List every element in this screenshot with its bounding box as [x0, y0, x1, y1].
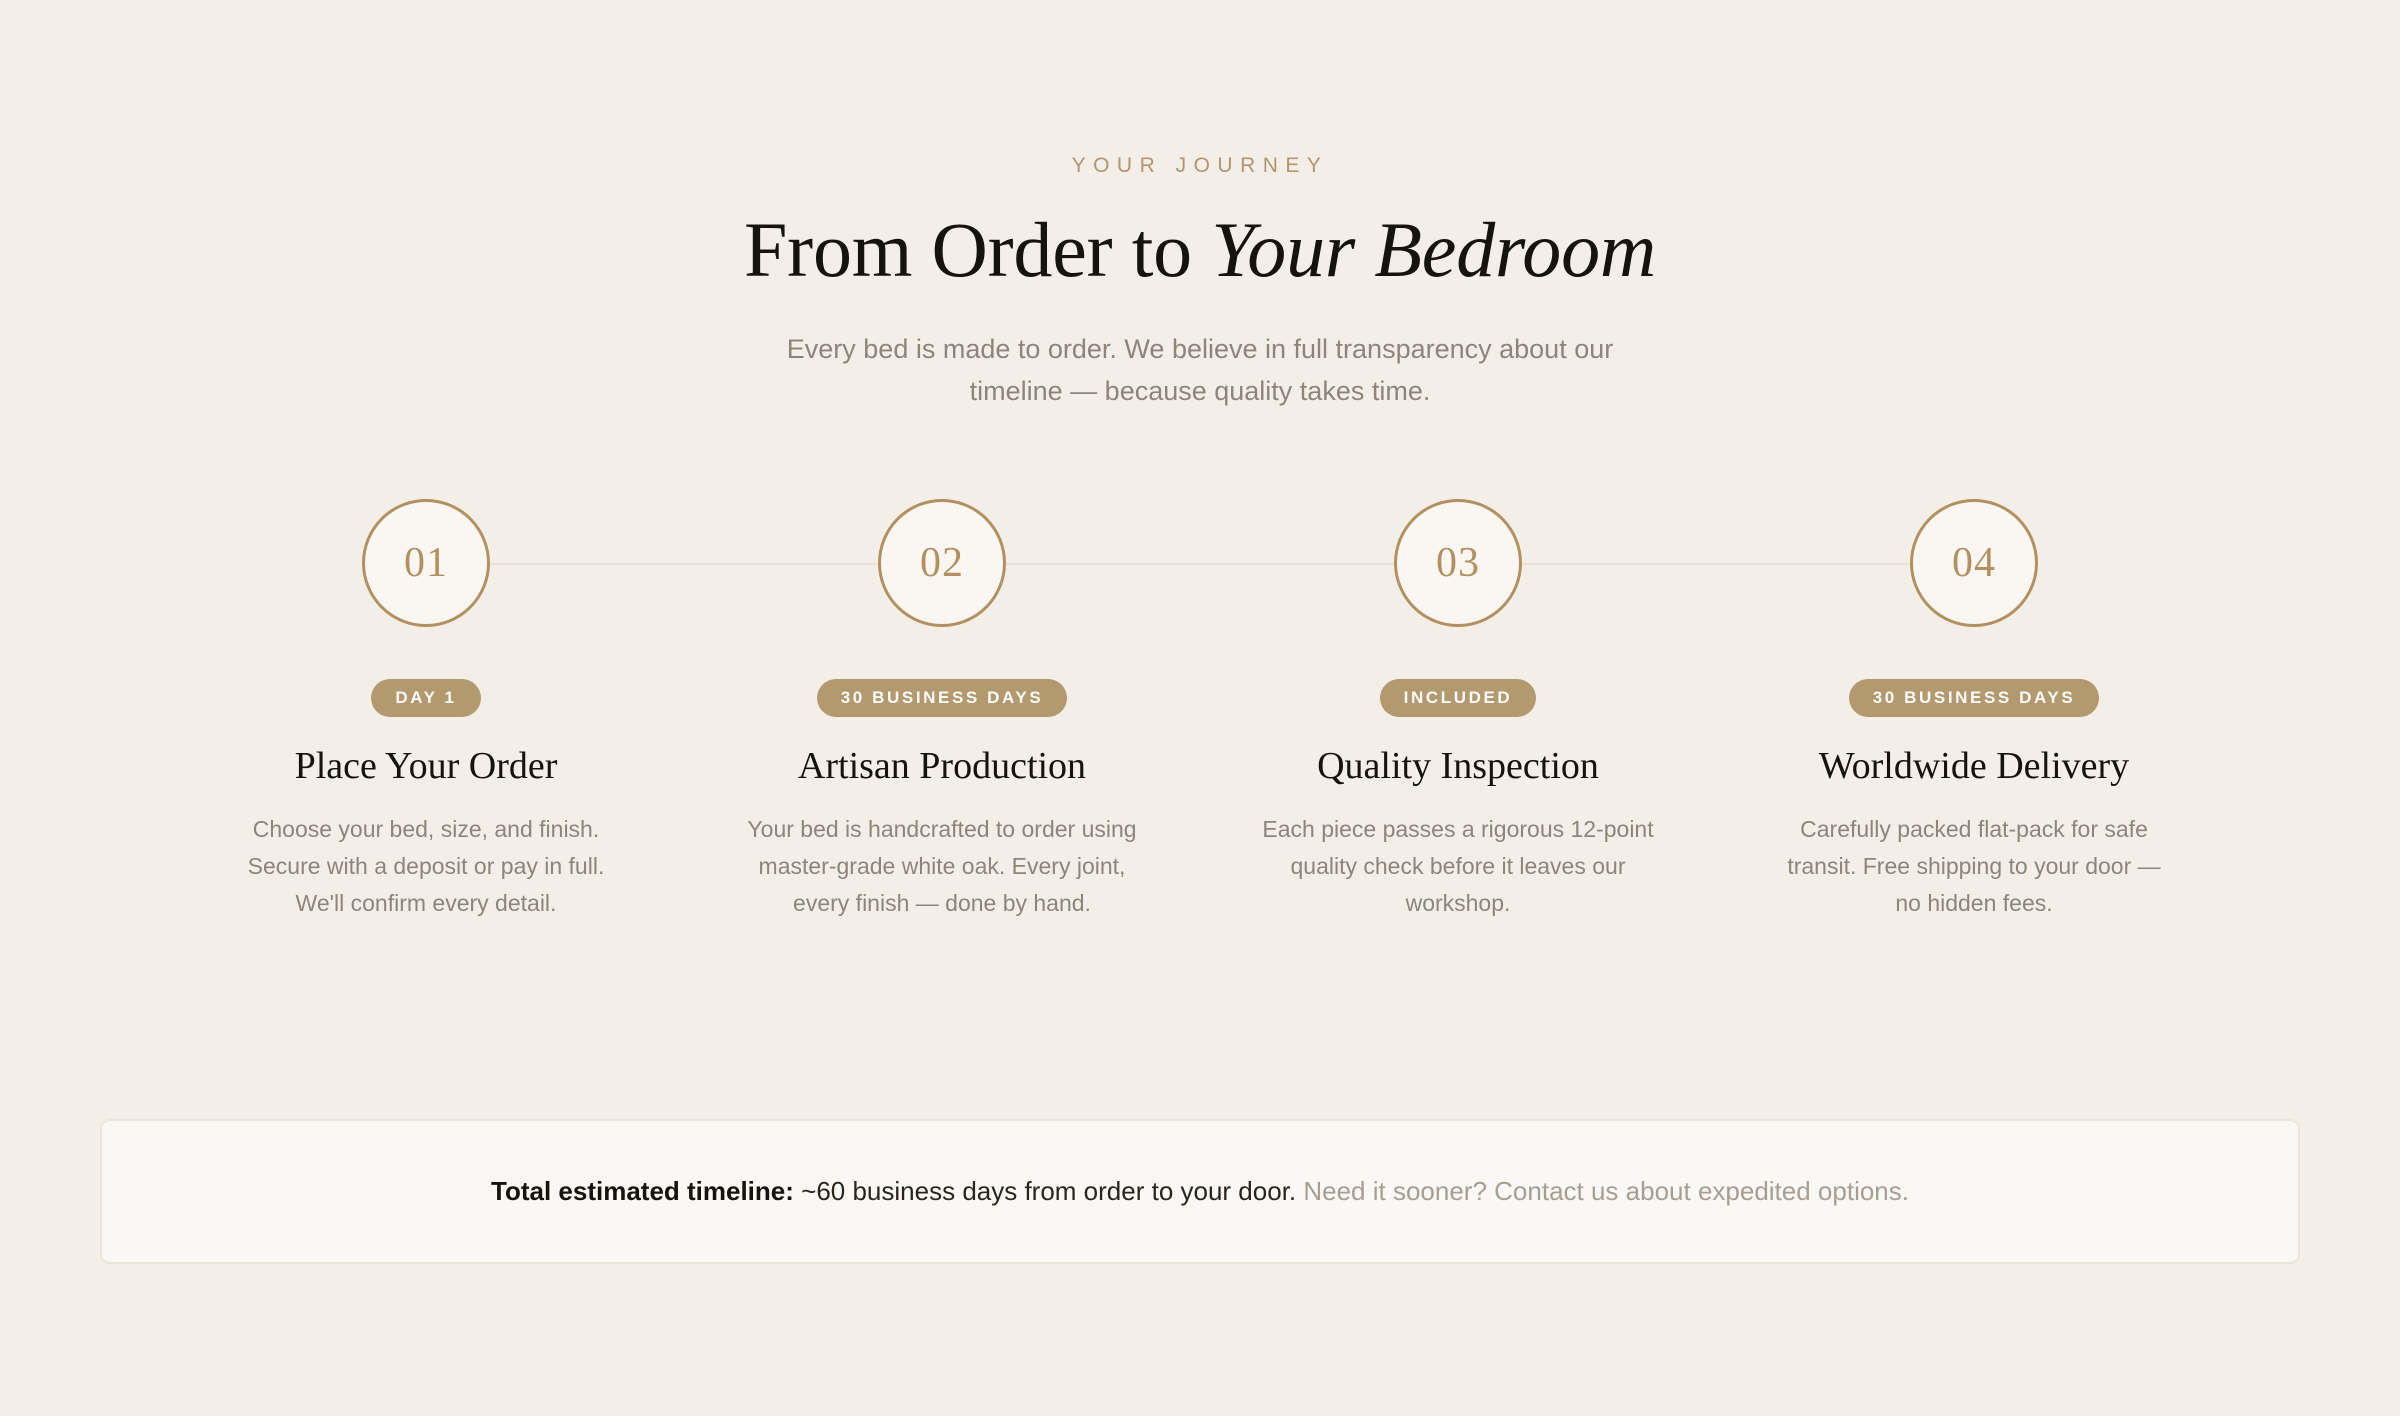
status-badge: 30 BUSINESS DAYS	[817, 679, 1068, 717]
step-title: Worldwide Delivery	[1819, 744, 2129, 789]
note-main-text: ~60 business days from order to your doo…	[794, 1176, 1303, 1206]
timeline-section: YOUR JOURNEY From Order to Your Bedroom …	[0, 0, 2400, 1416]
headline-plain: From Order to	[744, 206, 1211, 293]
timeline-step: 03 INCLUDED Quality Inspection Each piec…	[1200, 499, 1716, 923]
step-title: Place Your Order	[295, 744, 558, 789]
section-eyebrow: YOUR JOURNEY	[0, 155, 2400, 176]
timeline-step: 04 30 BUSINESS DAYS Worldwide Delivery C…	[1716, 499, 2232, 923]
step-description: Each piece passes a rigorous 12-point qu…	[1258, 811, 1658, 923]
status-badge: 30 BUSINESS DAYS	[1849, 679, 2100, 717]
note-lead-label: Total estimated timeline:	[491, 1176, 794, 1206]
total-timeline-note: Total estimated timeline: ~60 business d…	[100, 1119, 2300, 1264]
step-description: Carefully packed flat-pack for safe tran…	[1774, 811, 2174, 923]
step-number-circle: 02	[878, 499, 1006, 627]
timeline-step: 02 30 BUSINESS DAYS Artisan Production Y…	[684, 499, 1200, 923]
section-subtitle: Every bed is made to order. We believe i…	[740, 328, 1660, 413]
timeline-steps: 01 DAY 1 Place Your Order Choose your be…	[168, 499, 2232, 923]
step-number-circle: 03	[1394, 499, 1522, 627]
timeline-step: 01 DAY 1 Place Your Order Choose your be…	[168, 499, 684, 923]
status-badge: INCLUDED	[1380, 679, 1537, 717]
step-number-circle: 04	[1910, 499, 2038, 627]
step-description: Choose your bed, size, and finish. Secur…	[226, 811, 626, 923]
step-title: Quality Inspection	[1317, 744, 1599, 789]
page-title: From Order to Your Bedroom	[0, 209, 2400, 292]
step-title: Artisan Production	[798, 744, 1086, 789]
status-badge: DAY 1	[371, 679, 480, 717]
note-expedited-text: Need it sooner? Contact us about expedit…	[1303, 1176, 1909, 1206]
headline-emphasis: Your Bedroom	[1211, 206, 1656, 293]
timeline: 01 DAY 1 Place Your Order Choose your be…	[168, 499, 2232, 923]
section-header: YOUR JOURNEY From Order to Your Bedroom …	[0, 0, 2400, 413]
note-text: Total estimated timeline: ~60 business d…	[491, 1173, 1909, 1209]
step-number-circle: 01	[362, 499, 490, 627]
step-description: Your bed is handcrafted to order using m…	[742, 811, 1142, 923]
